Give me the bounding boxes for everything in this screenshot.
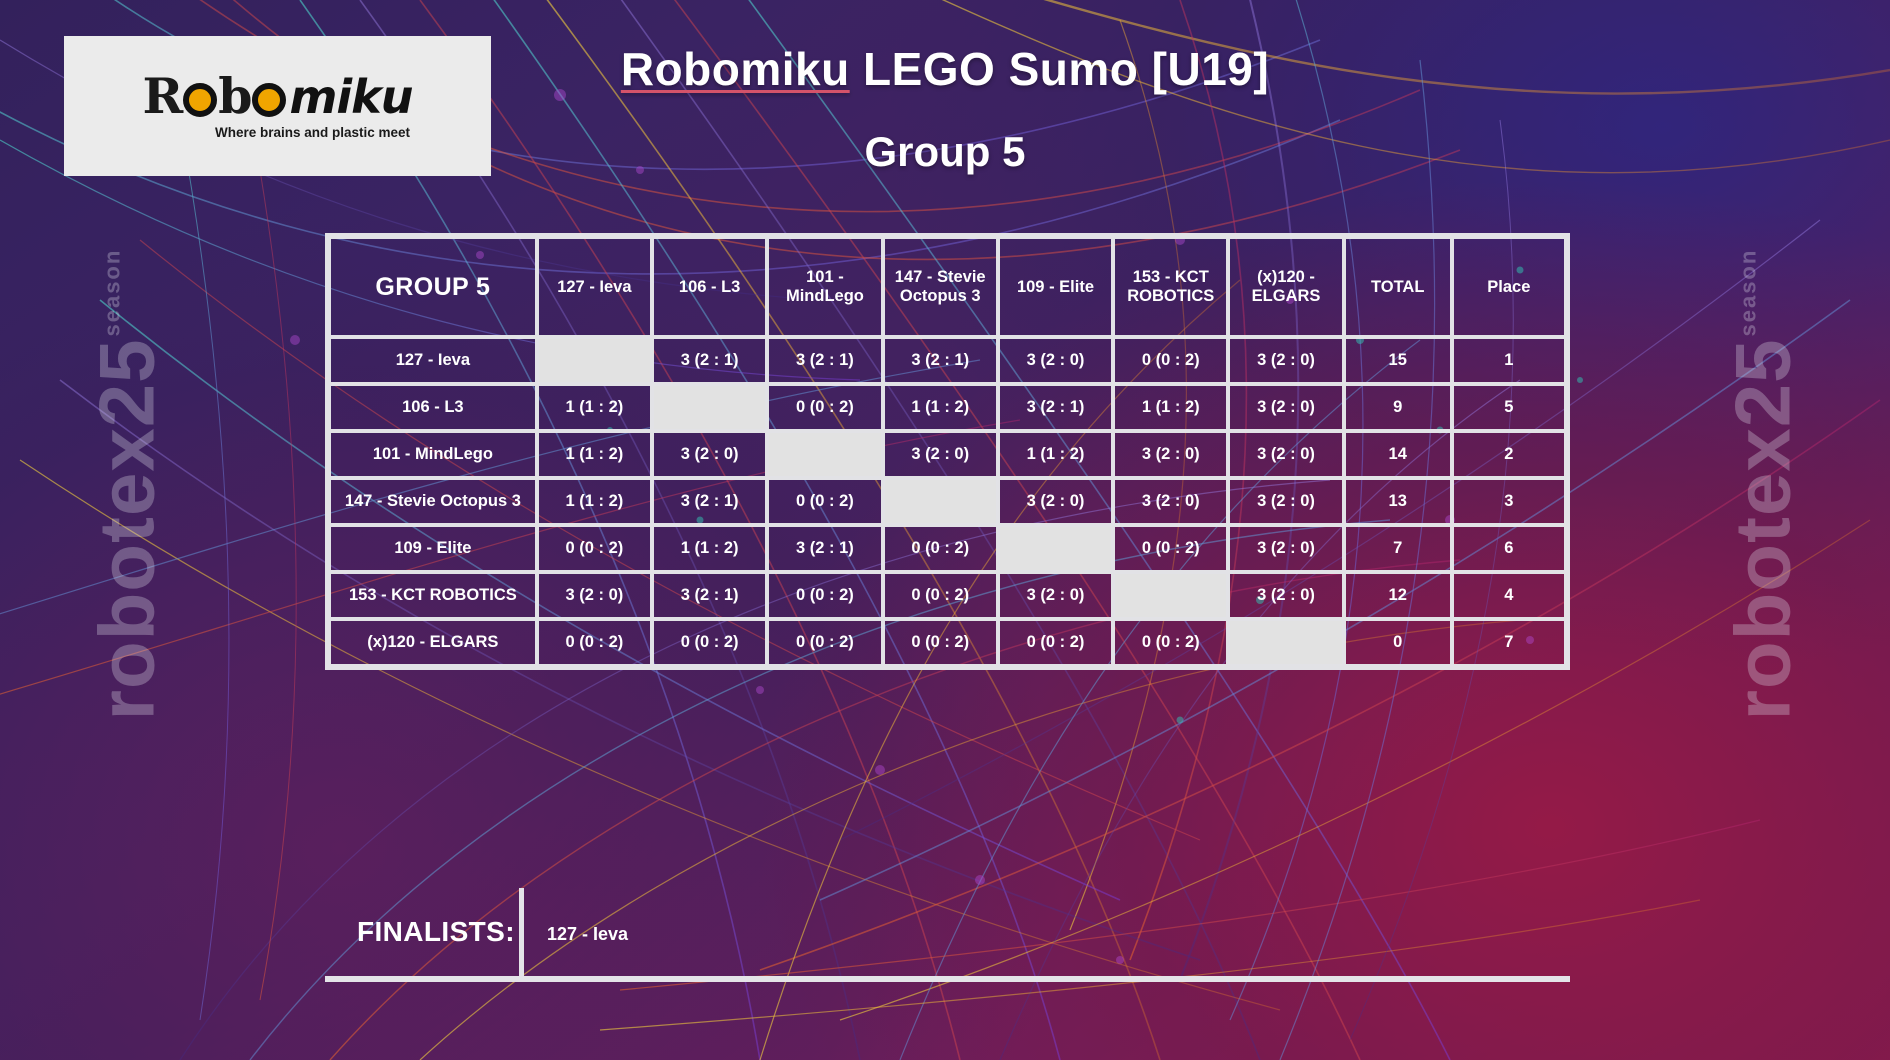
watermark-left-season: season [99, 249, 124, 337]
cell-score-r2c3: 3 (2 : 0) [883, 431, 998, 478]
cell-score-r0c2: 3 (2 : 1) [767, 337, 882, 384]
cell-place: 6 [1452, 525, 1566, 572]
finalists-section: FINALISTS: 127 - Ieva [325, 880, 1570, 980]
watermark-left-text: robotex [82, 427, 170, 720]
header-opponent-6: (x)120 - ELGARS [1228, 237, 1343, 337]
cell-self-blank [537, 337, 652, 384]
finalist-item-0: 127 - Ieva [547, 924, 628, 945]
finalists-list: 127 - Ieva [547, 924, 628, 945]
cell-score-r0c3: 3 (2 : 1) [883, 337, 998, 384]
cell-place: 2 [1452, 431, 1566, 478]
table-row: 153 - KCT ROBOTICS3 (2 : 0)3 (2 : 1)0 (0… [329, 572, 1566, 619]
page-subtitle: Group 5 [0, 128, 1890, 176]
standings-head: GROUP 5 127 - Ieva106 - L3101 - MindLego… [329, 237, 1566, 337]
page-title-rest: LEGO Sumo [U19] [850, 43, 1269, 95]
cell-score-r1c0: 1 (1 : 2) [537, 384, 652, 431]
standings-body: 127 - Ieva3 (2 : 1)3 (2 : 1)3 (2 : 1)3 (… [329, 337, 1566, 666]
cell-self-blank [1228, 619, 1343, 666]
cell-score-r5c4: 3 (2 : 0) [998, 572, 1113, 619]
cell-score-r5c6: 3 (2 : 0) [1228, 572, 1343, 619]
cell-total: 7 [1344, 525, 1452, 572]
header-opponent-1: 106 - L3 [652, 237, 767, 337]
cell-total: 13 [1344, 478, 1452, 525]
watermark-right-number: 25 [1719, 339, 1807, 428]
watermark-right-season: season [1736, 249, 1761, 337]
cell-score-r0c1: 3 (2 : 1) [652, 337, 767, 384]
cell-score-r3c5: 3 (2 : 0) [1113, 478, 1228, 525]
cell-score-r5c1: 3 (2 : 1) [652, 572, 767, 619]
cell-score-r1c2: 0 (0 : 2) [767, 384, 882, 431]
cell-score-r1c5: 1 (1 : 2) [1113, 384, 1228, 431]
table-row: 106 - L31 (1 : 2)0 (0 : 2)1 (1 : 2)3 (2 … [329, 384, 1566, 431]
row-team-name: 101 - MindLego [329, 431, 537, 478]
cell-self-blank [652, 384, 767, 431]
row-team-name: 147 - Stevie Octopus 3 [329, 478, 537, 525]
cell-score-r5c3: 0 (0 : 2) [883, 572, 998, 619]
watermark-right: robotex25season [1718, 251, 1809, 721]
table-row: (x)120 - ELGARS0 (0 : 2)0 (0 : 2)0 (0 : … [329, 619, 1566, 666]
cell-score-r0c4: 3 (2 : 0) [998, 337, 1113, 384]
cell-score-r5c2: 0 (0 : 2) [767, 572, 882, 619]
finalists-divider [519, 888, 524, 976]
cell-score-r6c0: 0 (0 : 2) [537, 619, 652, 666]
row-team-name: (x)120 - ELGARS [329, 619, 537, 666]
cell-score-r3c0: 1 (1 : 2) [537, 478, 652, 525]
header-total: TOTAL [1344, 237, 1452, 337]
cell-score-r1c6: 3 (2 : 0) [1228, 384, 1343, 431]
cell-total: 15 [1344, 337, 1452, 384]
cell-total: 0 [1344, 619, 1452, 666]
cell-self-blank [767, 431, 882, 478]
cell-score-r5c0: 3 (2 : 0) [537, 572, 652, 619]
cell-score-r2c1: 3 (2 : 0) [652, 431, 767, 478]
standings-header-row: GROUP 5 127 - Ieva106 - L3101 - MindLego… [329, 237, 1566, 337]
cell-score-r3c6: 3 (2 : 0) [1228, 478, 1343, 525]
header-opponent-3: 147 - Stevie Octopus 3 [883, 237, 998, 337]
header-opponent-2: 101 - MindLego [767, 237, 882, 337]
cell-score-r4c2: 3 (2 : 1) [767, 525, 882, 572]
cell-score-r0c5: 0 (0 : 2) [1113, 337, 1228, 384]
table-row: 127 - Ieva3 (2 : 1)3 (2 : 1)3 (2 : 1)3 (… [329, 337, 1566, 384]
row-team-name: 109 - Elite [329, 525, 537, 572]
table-row: 147 - Stevie Octopus 31 (1 : 2)3 (2 : 1)… [329, 478, 1566, 525]
watermark-left-number: 25 [82, 339, 170, 428]
cell-score-r6c2: 0 (0 : 2) [767, 619, 882, 666]
page-title-brand: Robomiku [621, 43, 850, 95]
cell-score-r3c4: 3 (2 : 0) [998, 478, 1113, 525]
cell-score-r1c4: 3 (2 : 1) [998, 384, 1113, 431]
row-team-name: 153 - KCT ROBOTICS [329, 572, 537, 619]
standings-table: GROUP 5 127 - Ieva106 - L3101 - MindLego… [325, 233, 1570, 670]
cell-score-r4c5: 0 (0 : 2) [1113, 525, 1228, 572]
cell-score-r3c2: 0 (0 : 2) [767, 478, 882, 525]
standings-table-container: GROUP 5 127 - Ieva106 - L3101 - MindLego… [325, 233, 1570, 670]
cell-place: 3 [1452, 478, 1566, 525]
header-opponent-0: 127 - Ieva [537, 237, 652, 337]
cell-score-r4c0: 0 (0 : 2) [537, 525, 652, 572]
cell-score-r4c3: 0 (0 : 2) [883, 525, 998, 572]
cell-score-r6c1: 0 (0 : 2) [652, 619, 767, 666]
cell-self-blank [883, 478, 998, 525]
cell-score-r0c6: 3 (2 : 0) [1228, 337, 1343, 384]
cell-place: 1 [1452, 337, 1566, 384]
table-row: 109 - Elite0 (0 : 2)1 (1 : 2)3 (2 : 1)0 … [329, 525, 1566, 572]
cell-score-r2c0: 1 (1 : 2) [537, 431, 652, 478]
cell-score-r4c1: 1 (1 : 2) [652, 525, 767, 572]
cell-score-r6c3: 0 (0 : 2) [883, 619, 998, 666]
cell-total: 14 [1344, 431, 1452, 478]
finalists-label: FINALISTS: [357, 916, 515, 948]
cell-place: 7 [1452, 619, 1566, 666]
header-corner-group: GROUP 5 [329, 237, 537, 337]
cell-score-r4c6: 3 (2 : 0) [1228, 525, 1343, 572]
table-row: 101 - MindLego1 (1 : 2)3 (2 : 0)3 (2 : 0… [329, 431, 1566, 478]
cell-place: 4 [1452, 572, 1566, 619]
header-opponent-5: 153 - KCT ROBOTICS [1113, 237, 1228, 337]
cell-score-r2c5: 3 (2 : 0) [1113, 431, 1228, 478]
cell-score-r1c3: 1 (1 : 2) [883, 384, 998, 431]
finalists-rule [325, 976, 1570, 982]
cell-place: 5 [1452, 384, 1566, 431]
cell-score-r2c4: 1 (1 : 2) [998, 431, 1113, 478]
cell-score-r3c1: 3 (2 : 1) [652, 478, 767, 525]
row-team-name: 106 - L3 [329, 384, 537, 431]
cell-score-r2c6: 3 (2 : 0) [1228, 431, 1343, 478]
cell-total: 9 [1344, 384, 1452, 431]
cell-score-r6c5: 0 (0 : 2) [1113, 619, 1228, 666]
cell-self-blank [1113, 572, 1228, 619]
page-title: Robomiku LEGO Sumo [U19] [0, 42, 1890, 96]
header-opponent-4: 109 - Elite [998, 237, 1113, 337]
watermark-right-text: robotex [1719, 427, 1807, 720]
cell-total: 12 [1344, 572, 1452, 619]
row-team-name: 127 - Ieva [329, 337, 537, 384]
cell-score-r6c4: 0 (0 : 2) [998, 619, 1113, 666]
cell-self-blank [998, 525, 1113, 572]
watermark-left: robotex25season [81, 251, 172, 721]
header-place: Place [1452, 237, 1566, 337]
